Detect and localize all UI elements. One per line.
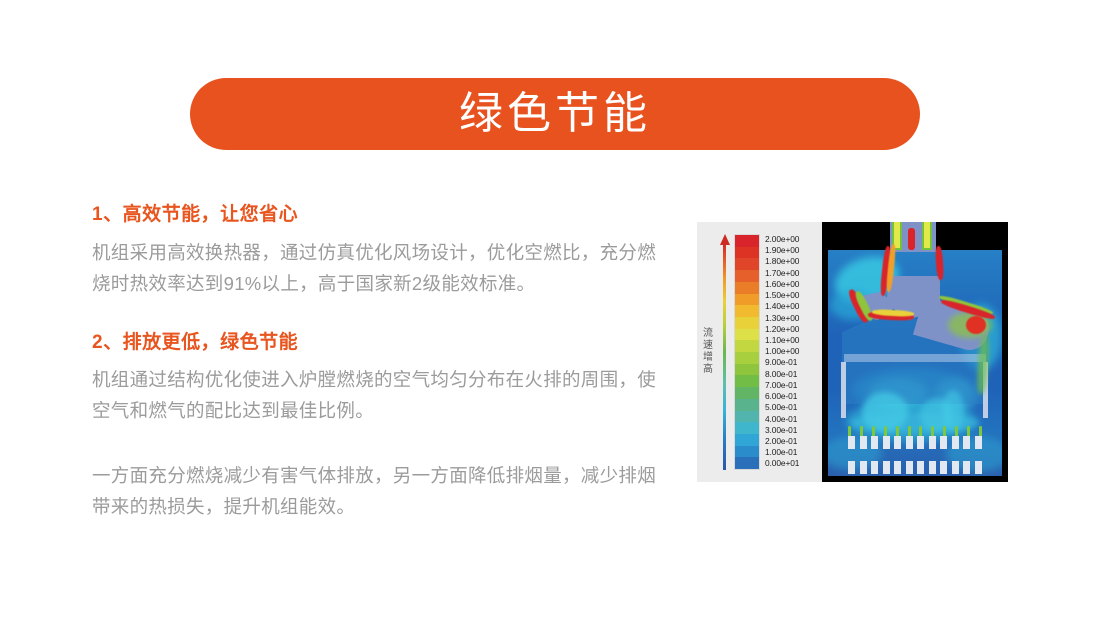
colorbar-tick-label: 1.10e+00 (765, 336, 799, 346)
velocity-axis-label: 流 速 增 高 (701, 328, 715, 376)
colorbar-band (735, 352, 759, 364)
burner-block (917, 461, 924, 474)
burner-block (963, 461, 970, 474)
burner-block (906, 436, 913, 449)
burner-block (883, 461, 890, 474)
burner-block (929, 436, 936, 449)
burner-block (917, 436, 924, 449)
burner-block (860, 461, 867, 474)
colorbar-tick-label: 1.20e+00 (765, 325, 799, 335)
feature-block-1: 1、高效节能，让您省心 机组采用高效换热器，通过仿真优化风场设计，优化空燃比，充… (92, 203, 674, 299)
colorbar-tick-label: 2.00e+00 (765, 235, 799, 245)
feature-body-2: 机组通过结构优化使进入炉膛燃烧的空气均匀分布在火排的周围，使空气和燃气的配比达到… (92, 364, 674, 426)
colorbar-band (735, 375, 759, 387)
colorbar-tick-label: 1.60e+00 (765, 280, 799, 290)
colorbar-band (735, 434, 759, 446)
burner-block (871, 461, 878, 474)
burner-block (860, 436, 867, 449)
axis-label-char-3: 高 (701, 364, 715, 376)
feature-body-1: 机组采用高效换热器，通过仿真优化风场设计，优化空燃比，充分燃烧时热效率达到91%… (92, 237, 674, 299)
burner-block (975, 461, 982, 474)
burner-block (906, 461, 913, 474)
colorbar-tick-labels: 2.00e+001.90e+001.80e+001.70e+001.60e+00… (765, 234, 799, 470)
colorbar (734, 234, 760, 470)
colorbar-tick-label: 1.30e+00 (765, 314, 799, 324)
burner-block (952, 461, 959, 474)
velocity-axis: 流 速 增 高 (699, 234, 733, 470)
colorbar-band (735, 282, 759, 294)
colorbar-band (735, 247, 759, 259)
burner-block (871, 436, 878, 449)
colorbar-band (735, 387, 759, 399)
colorbar-band (735, 329, 759, 341)
up-arrow-icon (719, 234, 729, 470)
colorbar-band (735, 305, 759, 317)
burner-block (940, 461, 947, 474)
colorbar-tick-label: 9.00e-01 (765, 358, 799, 368)
colorbar-tick-label: 1.00e+00 (765, 347, 799, 357)
colorbar-tick-label: 7.00e-01 (765, 381, 799, 391)
feature-heading-2: 2、排放更低，绿色节能 (92, 331, 674, 356)
colorbar-band (735, 294, 759, 306)
colorbar-tick-label: 1.90e+00 (765, 246, 799, 256)
colorbar-tick-label: 1.00e-01 (765, 448, 799, 458)
burner-block (952, 436, 959, 449)
colorbar-tick-label: 2.00e-01 (765, 437, 799, 447)
feature-block-3: 一方面充分燃烧减少有害气体排放，另一方面降低排烟量，减少排烟带来的热损失，提升机… (92, 460, 674, 522)
axis-label-char-0: 流 (701, 328, 715, 340)
feature-block-2: 2、排放更低，绿色节能 机组通过结构优化使进入炉膛燃烧的空气均匀分布在火排的周围… (92, 331, 674, 427)
burner-block (848, 461, 855, 474)
colorbar-band (735, 270, 759, 282)
colorbar-tick-label: 1.40e+00 (765, 302, 799, 312)
burner-row (848, 436, 982, 449)
axis-label-char-2: 增 (701, 352, 715, 364)
cfd-contour-image (822, 222, 1008, 482)
feature-body-3: 一方面充分燃烧减少有害气体排放，另一方面降低排烟量，减少排烟带来的热损失，提升机… (92, 460, 674, 522)
content-column: 1、高效节能，让您省心 机组采用高效换热器，通过仿真优化风场设计，优化空燃比，充… (92, 203, 674, 522)
combustion-chamber-field (828, 250, 1002, 476)
colorbar-tick-label: 1.70e+00 (765, 269, 799, 279)
burner-array (848, 436, 982, 474)
colorbar-band (735, 364, 759, 376)
slide-page: 绿色节能 1、高效节能，让您省心 机组采用高效换热器，通过仿真优化风场设计，优化… (0, 0, 1100, 622)
chamber-wall-left (841, 362, 846, 418)
burner-row (848, 461, 982, 474)
burner-block (894, 436, 901, 449)
burner-block (894, 461, 901, 474)
colorbar-tick-label: 1.50e+00 (765, 291, 799, 301)
colorbar-band (735, 411, 759, 423)
colorbar-tick-label: 5.00e-01 (765, 403, 799, 413)
colorbar-band (735, 399, 759, 411)
cfd-figure: 流 速 增 高 2.00e+001.90e+001.80e+001.70e+00… (697, 222, 1008, 482)
burner-block (929, 461, 936, 474)
feature-heading-1: 1、高效节能，让您省心 (92, 203, 674, 228)
burner-block (963, 436, 970, 449)
heat-exchanger-tube-bank (844, 354, 986, 362)
colorbar-band (735, 317, 759, 329)
colorbar-tick-label: 1.80e+00 (765, 257, 799, 267)
colorbar-band (735, 235, 759, 247)
title-banner: 绿色节能 (190, 78, 920, 150)
burner-block (883, 436, 890, 449)
colorbar-tick-label: 6.00e-01 (765, 392, 799, 402)
colorbar-band (735, 258, 759, 270)
page-title: 绿色节能 (459, 92, 651, 136)
cfd-legend-panel: 流 速 增 高 2.00e+001.90e+001.80e+001.70e+00… (697, 222, 822, 482)
colorbar-band (735, 457, 759, 469)
burner-block (975, 436, 982, 449)
colorbar-band (735, 446, 759, 458)
colorbar-band (735, 422, 759, 434)
burner-block (848, 436, 855, 449)
hotspot-high-velocity (966, 316, 986, 334)
colorbar-tick-label: 3.00e-01 (765, 426, 799, 436)
burner-block (940, 436, 947, 449)
colorbar-tick-label: 0.00e+01 (765, 459, 799, 469)
colorbar-tick-label: 8.00e-01 (765, 370, 799, 380)
axis-label-char-1: 速 (701, 340, 715, 352)
cfd-contour-stage (828, 222, 1002, 476)
colorbar-band (735, 340, 759, 352)
colorbar-tick-label: 4.00e-01 (765, 415, 799, 425)
